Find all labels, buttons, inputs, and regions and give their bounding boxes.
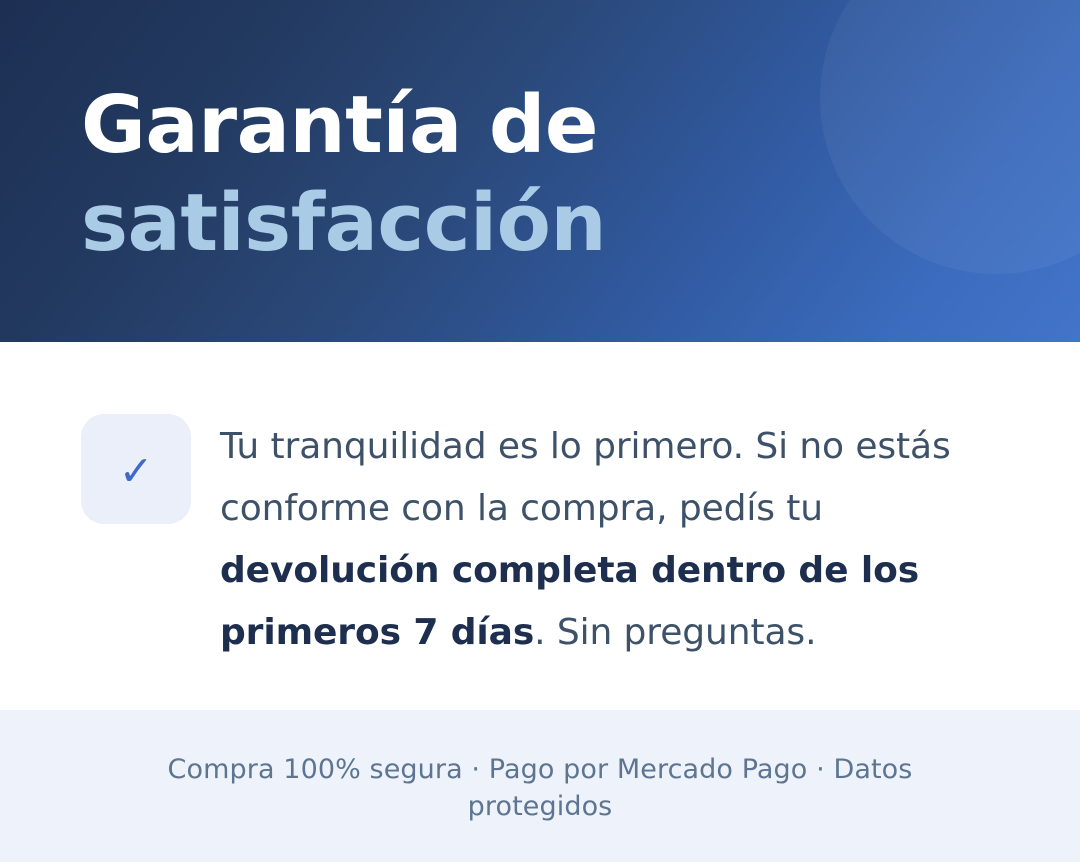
page-title-line-2: satisfacción xyxy=(81,174,606,272)
guarantee-row: ✓ Tu tranquilidad es lo primero. Si no e… xyxy=(0,414,1036,664)
check-icon: ✓ xyxy=(119,451,153,492)
guarantee-text-part-2: . Sin preguntas. xyxy=(534,612,816,653)
check-badge: ✓ xyxy=(81,414,191,524)
footer-trust-text: Compra 100% segura · Pago por Mercado Pa… xyxy=(120,751,960,825)
page-title: Garantía de satisfacción xyxy=(81,76,606,272)
guarantee-card: Garantía de satisfacción ✓ Tu tranquilid… xyxy=(0,0,1080,862)
guarantee-description: Tu tranquilidad es lo primero. Si no est… xyxy=(220,414,976,664)
guarantee-text-part-1: Tu tranquilidad es lo primero. Si no est… xyxy=(220,426,951,529)
footer-bar: Compra 100% segura · Pago por Mercado Pa… xyxy=(0,710,1080,862)
decorative-circle-icon xyxy=(820,0,1080,274)
guarantee-body: ✓ Tu tranquilidad es lo primero. Si no e… xyxy=(0,342,1080,710)
page-title-line-1: Garantía de xyxy=(81,76,606,174)
header-banner: Garantía de satisfacción xyxy=(0,0,1080,342)
